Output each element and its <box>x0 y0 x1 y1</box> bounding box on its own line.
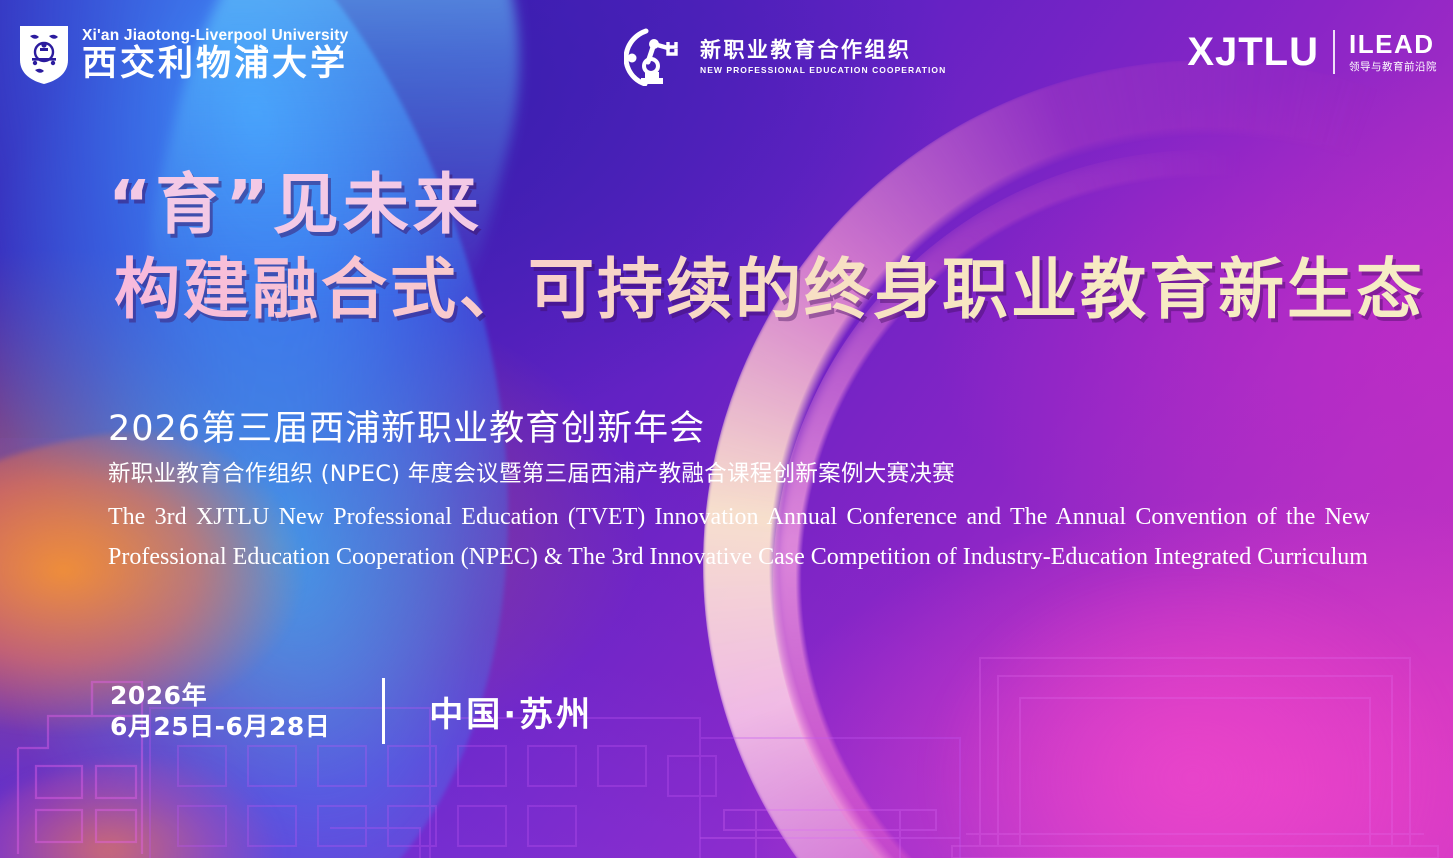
event-location: 中国·苏州 <box>429 687 593 736</box>
ilead-logo: XJTLU ILEAD 领导与教育前沿院 <box>1187 30 1437 74</box>
xjtlu-chinese-name: 西交利物浦大学 <box>82 47 348 82</box>
conference-poster: Xi'an Jiaotong-Liverpool University 西交利物… <box>0 0 1453 858</box>
conference-title-english: The 3rd XJTLU New Professional Education… <box>108 497 1370 577</box>
logo-divider <box>1333 30 1335 74</box>
conference-subtitle-chinese: 新职业教育合作组织 (NPEC) 年度会议暨第三届西浦产教融合课程创新案例大赛决… <box>108 460 1383 489</box>
ilead-unit-label: ILEAD <box>1349 31 1437 57</box>
xjtlu-english-name: Xi'an Jiaotong-Liverpool University <box>82 28 348 44</box>
event-date: 2026年 6月25日-6月28日 <box>110 680 330 743</box>
event-year: 2026年 <box>110 680 330 711</box>
orange-glow-decoration <box>0 760 360 858</box>
headline-line-2: 构建融合式、可持续的终身职业教育新生态 <box>114 255 1425 324</box>
footer-divider <box>382 678 385 744</box>
event-date-range: 6月25日-6月28日 <box>110 711 330 742</box>
xjtlu-logo: Xi'an Jiaotong-Liverpool University 西交利物… <box>18 24 348 86</box>
shield-crest-icon <box>18 24 70 86</box>
logo-row: Xi'an Jiaotong-Liverpool University 西交利物… <box>0 0 1453 110</box>
headline-line-1: “育”见未来 <box>108 170 1425 239</box>
robot-arm-icon <box>624 28 688 86</box>
npec-chinese-name: 新职业教育合作组织 <box>700 40 946 61</box>
headline-block: “育”见未来 构建融合式、可持续的终身职业教育新生态 <box>108 170 1425 325</box>
conference-title-chinese: 2026第三届西浦新职业教育创新年会 <box>108 408 1383 452</box>
ilead-unit-chinese-label: 领导与教育前沿院 <box>1349 62 1437 73</box>
ilead-university-label: XJTLU <box>1187 32 1319 72</box>
npec-logo: 新职业教育合作组织 NEW PROFESSIONAL EDUCATION COO… <box>624 28 946 86</box>
event-details-block: 2026年 6月25日-6月28日 中国·苏州 <box>110 678 593 744</box>
npec-english-name: NEW PROFESSIONAL EDUCATION COOPERATION <box>700 66 946 75</box>
subtitle-block: 2026第三届西浦新职业教育创新年会 新职业教育合作组织 (NPEC) 年度会议… <box>108 408 1383 577</box>
